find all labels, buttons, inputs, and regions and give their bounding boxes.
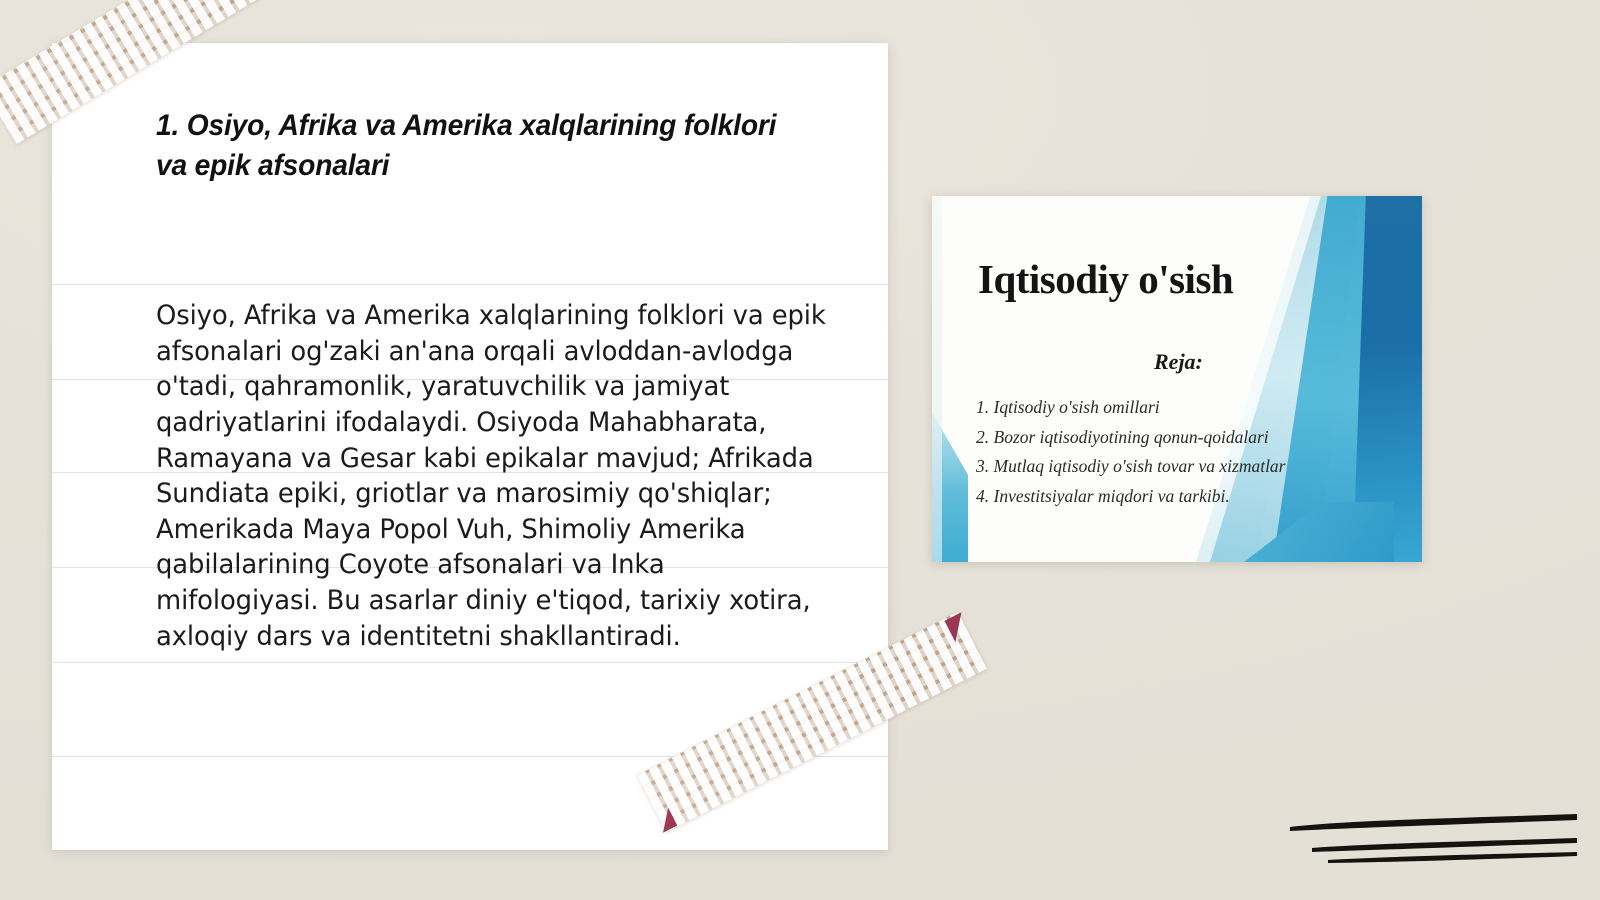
slide-thumbnail-image[interactable]: Iqtisodiy o'sish Reja: 1. Iqtisodiy o'si… [932, 196, 1422, 562]
thumbnail-agenda-list: 1. Iqtisodiy o'sish omillari 2. Bozor iq… [976, 393, 1396, 511]
list-item: 2. Bozor iqtisodiyotining qonun-qoidalar… [976, 423, 1396, 453]
page-title: 1. Osiyo, Afrika va Amerika xalqlarining… [156, 106, 814, 186]
list-item: 4. Investitsiyalar miqdori va tarkibi. [976, 482, 1396, 512]
list-item: 3. Mutlaq iqtisodiy o'sish tovar va xizm… [976, 452, 1396, 482]
brush-strokes-icon [1288, 810, 1578, 870]
thumbnail-subtitle: Reja: [1154, 349, 1203, 375]
decor-shape-left-edge [932, 196, 942, 562]
body-paragraph: Osiyo, Afrika va Amerika xalqlarining fo… [156, 298, 829, 654]
thumbnail-title: Iqtisodiy o'sish [978, 255, 1233, 303]
list-item: 1. Iqtisodiy o'sish omillari [976, 393, 1396, 423]
brush-strokes-decoration [1288, 810, 1578, 870]
